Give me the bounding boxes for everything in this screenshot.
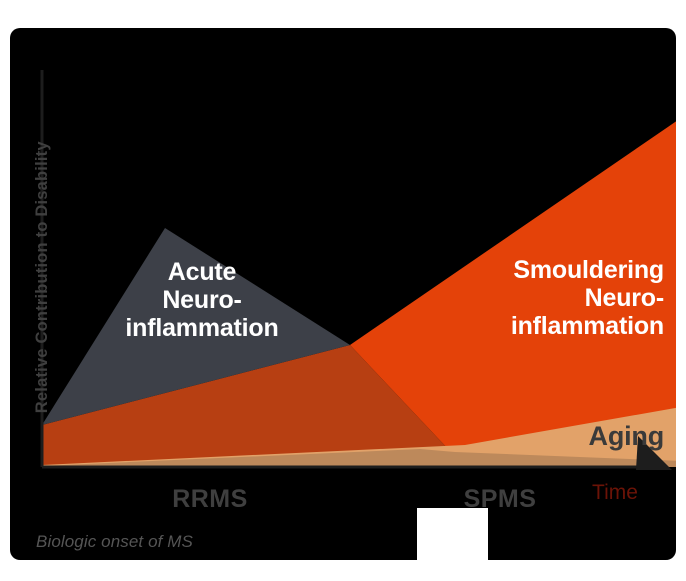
chart-figure: Relative Contribution to Disability Acut… (0, 0, 686, 581)
annotation-smouldering-neuroinflammation: Smouldering Neuro- inflammation (420, 256, 664, 340)
annotation-biologic-onset: Biologic onset of MS (36, 532, 193, 551)
white-occluder-rectangle (417, 508, 488, 560)
annotation-acute-neuroinflammation: Acute Neuro- inflammation (96, 258, 308, 342)
annotation-aging: Aging (520, 421, 664, 451)
y-axis-label: Relative Contribution to Disability (33, 127, 51, 427)
x-axis-label-time: Time (560, 481, 670, 505)
stage-label-rrms: RRMS (110, 485, 310, 513)
